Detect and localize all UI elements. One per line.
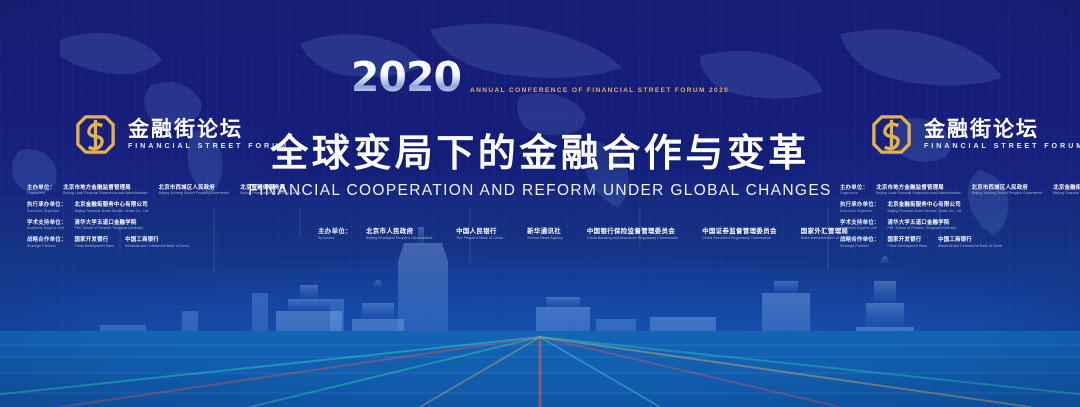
credit-items: 北京市人民政府Beijing Municipal People's Govern… [366,228,871,240]
credit-item: 清华大学五道口金融学院PBC School of Finance, Tsingh… [75,220,144,231]
credit-row: 战略合作单位：Strategic Partners国家开发银行China Dev… [840,237,1080,248]
credit-role-cn: 执行承办单位： [840,202,880,208]
credit-item-en: Beijing Xicheng District People's Govern… [972,192,1043,196]
credit-item: 北京市西城区人民政府Beijing Xicheng District Peopl… [972,185,1043,196]
credits-block-right: 主办单位：Organizers北京市地方金融监督管理局Beijing Local… [840,185,1080,248]
credit-row: 学术支持单位：Academic Support Unit清华大学五道口金融学院P… [840,220,1080,231]
credit-item: 新华通讯社Xinhua News Agency [527,228,563,240]
credit-item-en: China Development Bank [75,245,115,249]
credit-items: 国家开发银行China Development Bank中国工商银行Indust… [888,237,1002,248]
credit-item: 国家开发银行China Development Bank [888,237,928,248]
credit-role-en: Strategic Partners [27,245,67,249]
credit-item: 清华大学五道口金融学院PBC School of Finance, Tsingh… [888,220,957,231]
credit-items: 北京市地方金融监督管理局Beijing Local Financial Supe… [63,185,301,196]
credit-item: 北京金融街服务中心有限公司Beijing Financial Street Se… [888,202,963,213]
credit-item: 中国工商银行Industrial and Commercial Bank of … [125,237,189,248]
credit-items: 清华大学五道口金融学院PBC School of Finance, Tsingh… [75,220,144,231]
credit-item: 中国人民银行The People's Bank of China [456,228,503,240]
credit-item-en: Beijing Xicheng District People's Govern… [159,192,230,196]
event-masthead: 2020 金融街论坛年会 ANNUAL CONFERENCE OF FINANC… [0,58,1080,97]
credit-item-en: Beijing Financial Street Service Center … [888,210,963,214]
credit-item: 北京金融街服务局Beijing Financial Street Service… [240,185,301,196]
credit-item-cn: 北京市人民政府 [366,228,432,235]
event-title-cn: 金融街论坛年会 [470,58,666,85]
credit-item: 国家外汇管理局State Administration of Foreign E… [801,228,871,240]
credit-item-en: Beijing Financial Street Service Bureau [1053,192,1080,196]
credit-role-en: Academic Support Unit [27,227,67,231]
credits-block-left: 主办单位：Organizers北京市地方金融监督管理局Beijing Local… [27,185,301,248]
credit-row: 执行承办单位：Executive Organizer北京金融街服务中心有限公司B… [27,202,301,213]
credit-role-label: 主办单位：Organizers [27,185,55,196]
credit-role-label: 主办单位：Organizers [840,185,868,196]
credit-item-cn: 国家开发银行 [888,237,928,243]
credits-block-center: 主办单位：Sponsors北京市人民政府Beijing Municipal Pe… [318,228,871,240]
credit-role-label: 执行承办单位：Executive Organizer [27,202,67,213]
credit-item: 北京市人民政府Beijing Municipal People's Govern… [366,228,432,240]
credit-item-en: PBC School of Finance, Tsinghua Universi… [888,227,957,231]
credit-item-en: Industrial and Commercial Bank of China [938,245,1002,249]
credit-row: 学术支持单位：Academic Support Unit清华大学五道口金融学院P… [27,220,301,231]
credit-item-cn: 北京金融街服务中心有限公司 [75,202,150,208]
credit-item-en: China Banking and Insurance Regulatory C… [587,236,678,240]
credit-role-en: Organizers [27,192,55,196]
credit-row: 执行承办单位：Executive Organizer北京金融街服务中心有限公司B… [840,202,1080,213]
credit-item-en: Beijing Municipal People's Government [366,236,432,240]
event-title-en: ANNUAL CONFERENCE OF FINANCIAL STREET FO… [470,88,729,95]
credit-item: 中国工商银行Industrial and Commercial Bank of … [938,237,1002,248]
credit-item: 中国银行保险监督管理委员会China Banking and Insurance… [587,228,678,240]
credit-role-cn: 战略合作单位： [27,237,67,243]
credit-item-cn: 国家开发银行 [75,237,115,243]
credit-item-cn: 国家外汇管理局 [801,228,871,235]
credit-item: 北京市地方金融监督管理局Beijing Local Financial Supe… [876,185,960,196]
credit-row: 主办单位：Sponsors北京市人民政府Beijing Municipal Pe… [318,228,871,240]
credit-item-cn: 中国工商银行 [938,237,1002,243]
credit-item-en: The People's Bank of China [456,236,503,240]
credit-role-en: Executive Organizer [27,210,67,214]
credit-item-cn: 北京金融街服务中心有限公司 [888,202,963,208]
credit-items: 北京金融街服务中心有限公司Beijing Financial Street Se… [75,202,150,213]
credit-item-en: China Securities Regulatory Commission [702,236,777,240]
credit-item-cn: 中国人民银行 [456,228,503,235]
perspective-road-graphic [0,331,1080,407]
credit-item-en: State Administration of Foreign Exchange [801,236,871,240]
credit-items: 北京市地方金融监督管理局Beijing Local Financial Supe… [876,185,1080,196]
credit-item-cn: 中国银行保险监督管理委员会 [587,228,678,235]
credit-items: 国家开发银行China Development Bank中国工商银行Indust… [75,237,189,248]
credit-role-label: 执行承办单位：Executive Organizer [840,202,880,213]
credit-item: 北京金融街服务中心有限公司Beijing Financial Street Se… [75,202,150,213]
credit-item-en: Beijing Financial Street Service Bureau [240,192,301,196]
credit-items: 北京金融街服务中心有限公司Beijing Financial Street Se… [888,202,963,213]
credit-role-en: Executive Organizer [840,210,880,214]
credit-row: 主办单位：Organizers北京市地方金融监督管理局Beijing Local… [840,185,1080,196]
credit-item: 中国证券监督管理委员会China Securities Regulatory C… [702,228,777,240]
credit-item-cn: 新华通讯社 [527,228,563,235]
conference-backdrop: 金融街论坛 FINANCIAL STREET FORUM 金融街论坛 FINAN… [0,0,1080,407]
credit-row: 主办单位：Organizers北京市地方金融监督管理局Beijing Local… [27,185,301,196]
credit-items: 清华大学五道口金融学院PBC School of Finance, Tsingh… [888,220,957,231]
credit-role-label: 主办单位：Sponsors [318,228,352,240]
credit-item: 国家开发银行China Development Bank [75,237,115,248]
credit-item-cn: 中国证券监督管理委员会 [702,228,777,235]
credit-role-cn: 执行承办单位： [27,202,67,208]
credit-role-cn: 主办单位： [318,228,352,235]
credit-item-cn: 中国工商银行 [125,237,189,243]
credit-item-en: Beijing Local Financial Supervision and … [876,192,960,196]
credit-item: 北京市西城区人民政府Beijing Xicheng District Peopl… [159,185,230,196]
credit-role-label: 学术支持单位：Academic Support Unit [27,220,67,231]
credit-item-en: Beijing Financial Street Service Center … [75,210,150,214]
theme-headline-cn: 全球变局下的金融合作与变革 [0,133,1080,176]
credit-role-en: Strategic Partners [840,245,880,249]
event-year: 2020 [351,59,461,97]
credit-role-label: 战略合作单位：Strategic Partners [27,237,67,248]
credit-role-en: Organizers [840,192,868,196]
credit-row: 战略合作单位：Strategic Partners国家开发银行China Dev… [27,237,301,248]
credit-item-en: PBC School of Finance, Tsinghua Universi… [75,227,144,231]
credit-item: 北京金融街服务局Beijing Financial Street Service… [1053,185,1080,196]
credit-item-en: China Development Bank [888,245,928,249]
credit-item-en: Beijing Local Financial Supervision and … [63,192,147,196]
credit-role-en: Sponsors [318,236,352,240]
credit-item-en: Industrial and Commercial Bank of China [125,245,189,249]
credit-item-en: Xinhua News Agency [527,236,563,240]
credit-item: 北京市地方金融监督管理局Beijing Local Financial Supe… [63,185,147,196]
